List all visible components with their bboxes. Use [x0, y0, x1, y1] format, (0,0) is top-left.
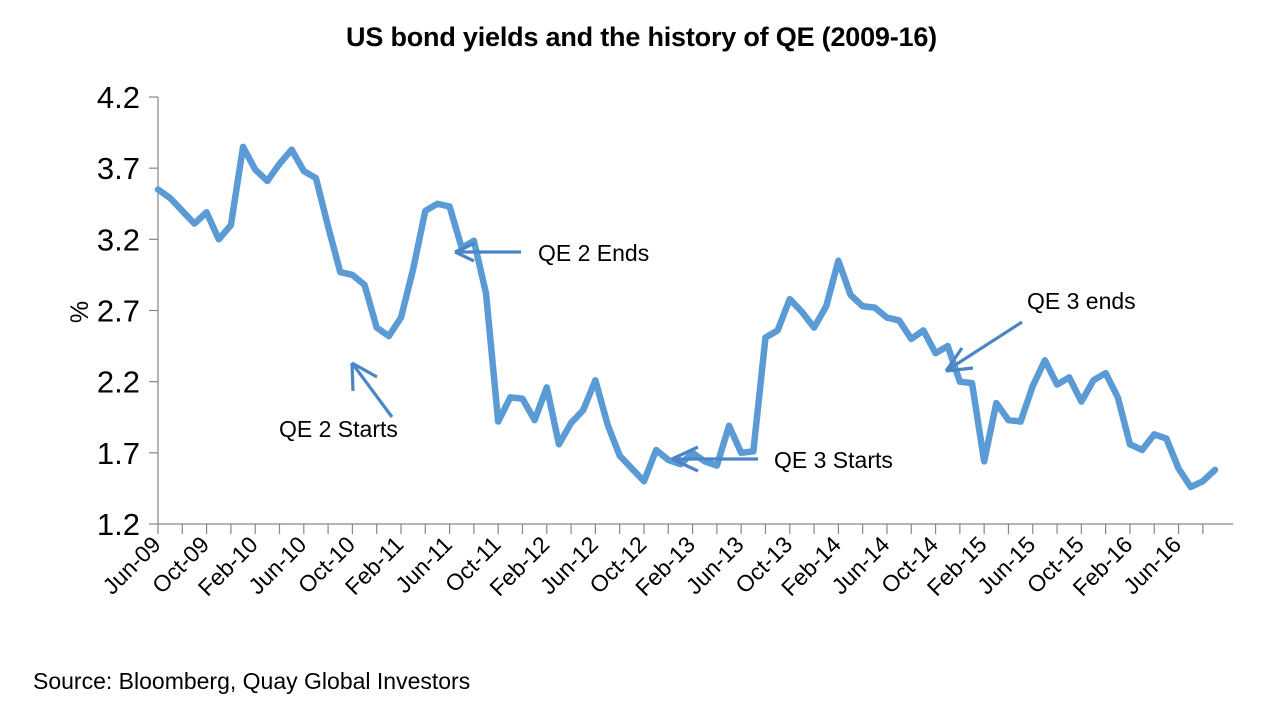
qe3-ends-arrow-shaft: [946, 322, 1022, 371]
x-tick-label: Jun-11: [390, 531, 457, 598]
y-axis: 1.21.72.22.73.23.74.2 %: [66, 80, 158, 542]
annotation-qe2-starts: QE 2 Starts: [279, 363, 398, 442]
y-tick-label: 4.2: [97, 80, 140, 115]
x-axis: Jun-09Oct-09Feb-10Jun-10Oct-10Feb-11Jun-…: [97, 524, 1233, 601]
annotation-qe2-ends: QE 2 Ends: [455, 240, 649, 266]
x-tick-label-group: Jun-09Oct-09Feb-10Jun-10Oct-10Feb-11Jun-…: [97, 531, 1186, 601]
y-tick-label: 1.2: [97, 507, 140, 542]
y-tick-label: 2.2: [97, 365, 140, 400]
qe2-starts-arrow-shaft: [352, 363, 392, 417]
y-tick-label-group: 1.21.72.22.73.23.74.2: [97, 80, 140, 542]
annotation-qe3-starts: QE 3 Starts: [672, 447, 893, 473]
y-axis-title: %: [66, 301, 94, 323]
source-note: Source: Bloomberg, Quay Global Investors: [33, 668, 470, 695]
qe2-starts-label: QE 2 Starts: [279, 416, 398, 442]
y-tick-group: [149, 97, 158, 524]
chart-plot-area: 1.21.72.22.73.23.74.2 % Jun-09Oct-09Feb-…: [0, 0, 1283, 711]
qe2-ends-label: QE 2 Ends: [538, 240, 649, 266]
y-tick-label: 2.7: [97, 294, 140, 329]
annotation-qe3-ends: QE 3 ends: [946, 288, 1136, 371]
qe3-ends-label: QE 3 ends: [1027, 288, 1136, 314]
y-tick-label: 1.7: [97, 436, 140, 471]
y-tick-label: 3.7: [97, 151, 140, 186]
chart-figure: US bond yields and the history of QE (20…: [0, 0, 1283, 711]
y-tick-label: 3.2: [97, 222, 140, 257]
qe3-starts-label: QE 3 Starts: [774, 447, 893, 473]
